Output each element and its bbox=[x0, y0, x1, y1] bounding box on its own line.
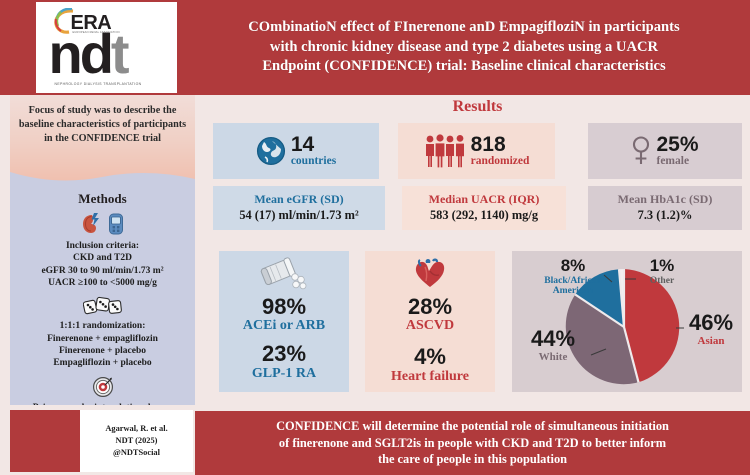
metric-card-hba1c: Mean HbA1c (SD) 7.3 (1.2)% bbox=[588, 186, 742, 230]
pie-name-other: Other bbox=[631, 276, 693, 287]
citation-journal: NDT (2025) bbox=[116, 435, 158, 447]
randomization-line-1: 1:1:1 randomization: bbox=[15, 320, 190, 332]
title-line-3: Endpoint (CONFIDENCE) trial: Baseline cl… bbox=[248, 57, 679, 76]
pie-pct-asian: 46% bbox=[682, 311, 740, 335]
focus-panel: Focus of study was to describe the basel… bbox=[10, 95, 195, 183]
pie-pct-white: 44% bbox=[518, 327, 588, 351]
dice-icon bbox=[83, 296, 123, 316]
title-line-2: with chronic kidney disease and type 2 d… bbox=[248, 38, 679, 57]
focus-curve-divider bbox=[10, 166, 195, 184]
stat-label-female: female bbox=[656, 155, 689, 167]
ndt-nd-letters: nd bbox=[49, 22, 111, 85]
medication-card: 98% ACEi or ARB 23% GLP-1 RA bbox=[219, 251, 349, 392]
banner-line-3: the care of people in this population bbox=[276, 451, 669, 468]
stat-number-female: 25% bbox=[656, 134, 698, 155]
banner-line-1: CONFIDENCE will determine the potential … bbox=[276, 418, 669, 435]
citation-box: Agarwal, R. et al. NDT (2025) @NDTSocial bbox=[80, 410, 193, 472]
cardio-pct-ascvd: 28% bbox=[408, 295, 452, 318]
metric-head-egfr: Mean eGFR (SD) bbox=[254, 192, 343, 207]
metric-head-uacr: Median UACR (IQR) bbox=[429, 192, 540, 207]
globe-icon bbox=[256, 136, 286, 166]
stat-card-countries: 14 countries bbox=[213, 123, 379, 179]
focus-text: Focus of study was to describe the basel… bbox=[10, 104, 195, 145]
randomization-line-4: Empagliflozin + placebo bbox=[15, 357, 190, 369]
cardiovascular-card: 28% ASCVD 4% Heart failure bbox=[365, 251, 495, 392]
med-pct-acei: 98% bbox=[262, 295, 306, 318]
journal-logo: ERA EUROPEAN RENAL ASSOCIATION ndt NEPHR… bbox=[36, 2, 177, 93]
pie-label-white: 44% White bbox=[518, 327, 588, 363]
stat-label-randomized: randomized bbox=[471, 155, 530, 167]
methods-heading: Methods bbox=[10, 191, 195, 207]
target-icon bbox=[92, 376, 114, 398]
people-icon bbox=[424, 134, 466, 168]
stat-label-countries: countries bbox=[291, 155, 336, 167]
cardio-label-hf: Heart failure bbox=[391, 369, 469, 384]
randomization-icon-row bbox=[10, 296, 195, 316]
citation-left-red-block bbox=[10, 410, 80, 472]
heart-icon bbox=[413, 257, 447, 289]
header-banner: ERA EUROPEAN RENAL ASSOCIATION ndt NEPHR… bbox=[0, 0, 750, 95]
header-left-strip bbox=[0, 0, 36, 95]
pie-label-other: 1% Other bbox=[631, 257, 693, 286]
stat-number-randomized: 818 bbox=[471, 134, 506, 155]
stat-number-countries: 14 bbox=[291, 134, 314, 155]
inclusion-line-3: eGFR 30 to 90 ml/min/1.73 m² bbox=[15, 265, 190, 277]
infographic-page: ERA EUROPEAN RENAL ASSOCIATION ndt NEPHR… bbox=[0, 0, 750, 475]
randomization-line-2: Finerenone + empagliflozin bbox=[15, 333, 190, 345]
ndt-wordmark: ndt bbox=[49, 26, 127, 82]
page-title: COmbinatioN effect of FInerenone anD Emp… bbox=[186, 6, 742, 89]
stat-card-female: 25% female bbox=[588, 123, 742, 179]
pie-label-black: 8% Black/African American bbox=[530, 257, 616, 297]
inclusion-line-1: Inclusion criteria: bbox=[15, 240, 190, 252]
inclusion-line-4: UACR ≥100 to <5000 mg/g bbox=[15, 277, 190, 289]
metric-head-hba1c: Mean HbA1c (SD) bbox=[618, 192, 713, 207]
randomization-text: 1:1:1 randomization: Finerenone + empagl… bbox=[10, 320, 195, 369]
metric-card-egfr: Mean eGFR (SD) 54 (17) ml/min/1.73 m² bbox=[213, 186, 385, 230]
cardio-label-ascvd: ASCVD bbox=[406, 318, 454, 333]
inclusion-line-2: CKD and T2D bbox=[15, 252, 190, 264]
pie-name-asian: Asian bbox=[682, 335, 740, 347]
pie-pct-black: 8% bbox=[530, 257, 616, 276]
med-label-glp1: GLP-1 RA bbox=[252, 366, 316, 381]
banner-line-2: of finerenone and SGLT2is in people with… bbox=[276, 435, 669, 452]
pie-name-black: Black/African American bbox=[530, 276, 616, 297]
metric-value-uacr: 583 (292, 1140) mg/g bbox=[430, 207, 538, 223]
med-pct-glp1: 23% bbox=[262, 342, 306, 365]
stat-card-randomized: 818 randomized bbox=[398, 123, 555, 179]
race-pie-chart: 8% Black/African American 1% Other 44% W… bbox=[512, 251, 742, 392]
conclusion-banner: CONFIDENCE will determine the potential … bbox=[195, 411, 750, 475]
ndt-subtitle: NEPHROLOGY DIALYSIS TRANSPLANTATION bbox=[55, 82, 142, 86]
randomization-line-3: Finerenone + placebo bbox=[15, 345, 190, 357]
pill-bottle-icon bbox=[259, 257, 309, 291]
pie-label-asian: 46% Asian bbox=[682, 311, 740, 347]
title-line-1: COmbinatioN effect of FInerenone anD Emp… bbox=[248, 18, 679, 37]
metric-card-uacr: Median UACR (IQR) 583 (292, 1140) mg/g bbox=[402, 186, 566, 230]
methods-sidebar: Focus of study was to describe the basel… bbox=[10, 95, 195, 405]
pie-name-white: White bbox=[518, 351, 588, 363]
results-heading: Results bbox=[205, 98, 750, 116]
female-symbol-icon bbox=[631, 135, 651, 167]
ndt-t-letter: t bbox=[111, 22, 127, 85]
inclusion-criteria: Inclusion criteria: CKD and T2D eGFR 30 … bbox=[10, 240, 195, 289]
pie-pct-other: 1% bbox=[631, 257, 693, 276]
cardio-pct-hf: 4% bbox=[414, 345, 446, 368]
kidney-icon bbox=[81, 212, 101, 236]
metric-value-hba1c: 7.3 (1.2)% bbox=[638, 207, 693, 223]
citation-handle: @NDTSocial bbox=[113, 447, 160, 459]
med-label-acei: ACEi or ARB bbox=[243, 318, 325, 333]
glucose-meter-icon bbox=[108, 212, 124, 236]
methods-icon-row bbox=[10, 212, 195, 236]
citation-authors: Agarwal, R. et al. bbox=[105, 423, 167, 435]
metric-value-egfr: 54 (17) ml/min/1.73 m² bbox=[239, 207, 358, 223]
endpoint-icon-row bbox=[10, 376, 195, 398]
